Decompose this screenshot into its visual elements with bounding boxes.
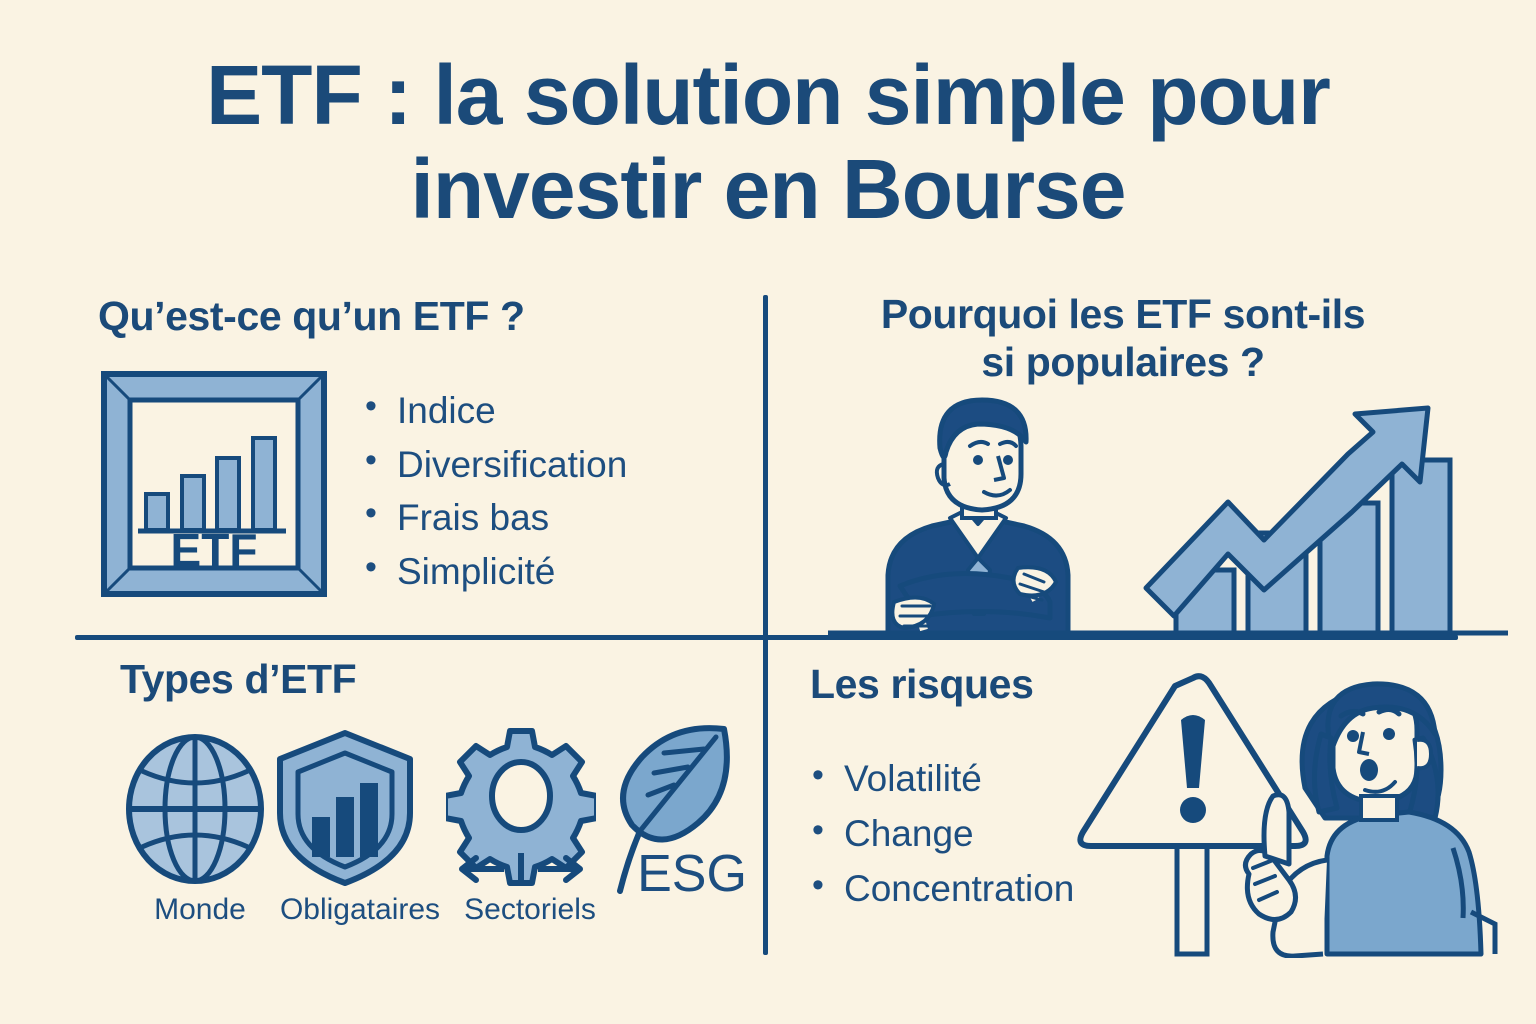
globe-icon xyxy=(120,731,270,891)
quadrant-types-of-etf: Types d’ETF Monde xyxy=(120,655,760,955)
page-title: ETF : la solution simple pour investir e… xyxy=(0,48,1536,236)
quadrant-why-popular: Pourquoi les ETF sont-ils si populaires … xyxy=(768,290,1536,638)
quadrant-types-title: Types d’ETF xyxy=(120,655,356,703)
quadrant-risks: Les risques Volatilité Change Concentrat… xyxy=(810,660,1536,960)
infographic-canvas: ETF : la solution simple pour investir e… xyxy=(0,0,1536,1024)
etf-framed-bar-chart-icon: ETF xyxy=(100,370,328,598)
quadrant-why-title-line1: Pourquoi les ETF sont-ils xyxy=(881,291,1365,337)
what-bullet-list: Indice Diversification Frais bas Simplic… xyxy=(363,384,627,599)
type-item-sectoriels[interactable]: Sectoriels xyxy=(446,727,614,925)
woman-with-warning-sign-illustration xyxy=(1065,668,1525,958)
list-item: Concentration xyxy=(810,862,1074,917)
woman-figure xyxy=(1245,684,1495,956)
leaf-icon: ESG xyxy=(612,713,752,913)
type-label: ESG xyxy=(637,845,747,903)
etf-icon-label: ETF xyxy=(171,524,258,576)
type-label: Monde xyxy=(120,895,280,925)
quadrant-why-title: Pourquoi les ETF sont-ils si populaires … xyxy=(768,290,1478,387)
type-item-obligataires[interactable]: Obligataires xyxy=(270,725,450,925)
list-item: Indice xyxy=(363,384,627,438)
type-label: Obligataires xyxy=(270,895,450,925)
quadrant-what-title: Qu’est-ce qu’un ETF ? xyxy=(98,292,525,340)
shield-bars-icon xyxy=(270,725,420,891)
list-item: Volatilité xyxy=(810,752,1074,807)
risks-bullet-list: Volatilité Change Concentration xyxy=(810,752,1074,916)
type-label: Sectoriels xyxy=(446,895,614,925)
businessman-with-rising-chart-illustration xyxy=(828,390,1508,640)
type-icon-row: Monde Obligataires xyxy=(120,717,720,947)
list-item: Diversification xyxy=(363,438,627,492)
list-item: Change xyxy=(810,807,1074,862)
type-item-esg[interactable]: ESG xyxy=(612,713,762,913)
list-item: Simplicité xyxy=(363,545,627,599)
quadrant-what-is-etf: Qu’est-ce qu’un ETF ? ETF Indice Diversi… xyxy=(98,292,758,622)
businessman-figure xyxy=(888,400,1068,633)
quadrant-why-title-line2: si populaires ? xyxy=(981,339,1264,385)
quadrant-risks-title: Les risques xyxy=(810,660,1033,708)
type-item-monde[interactable]: Monde xyxy=(120,731,280,925)
gear-arrows-icon xyxy=(446,727,596,891)
list-item: Frais bas xyxy=(363,491,627,545)
